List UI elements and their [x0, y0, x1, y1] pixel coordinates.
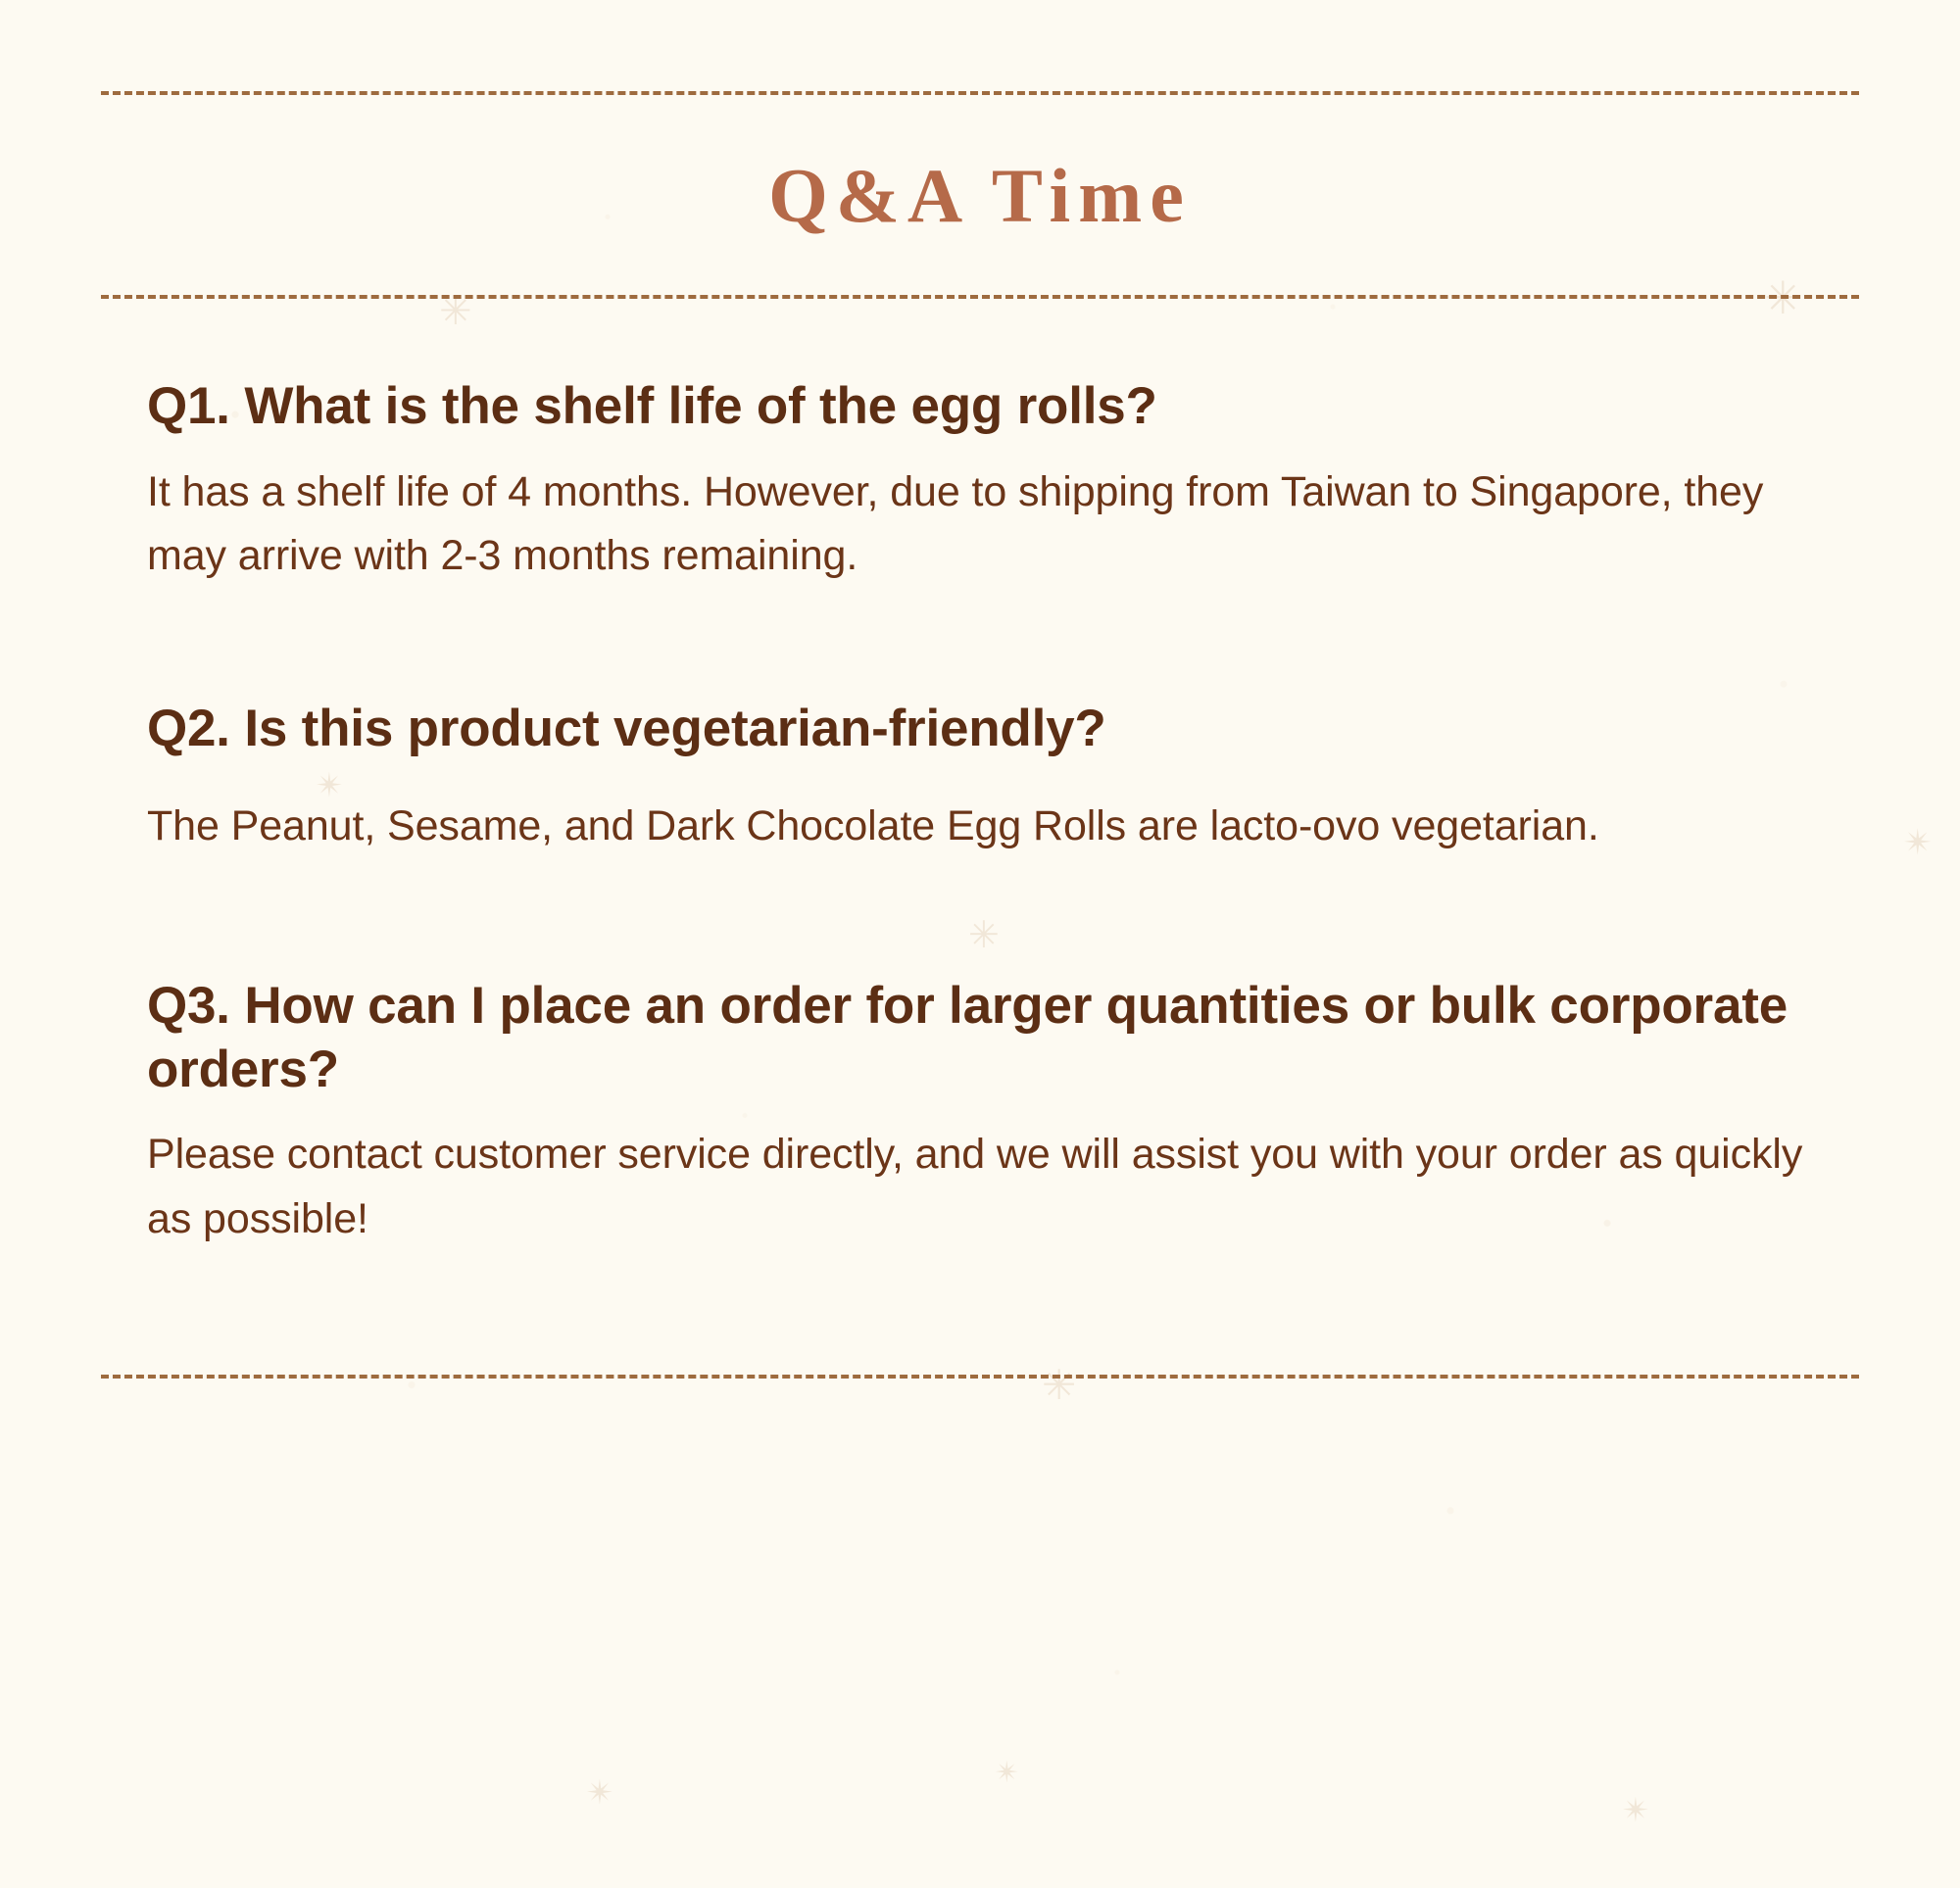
faq-item-3: Q3. How can I place an order for larger … [147, 975, 1813, 1251]
spacer-between-q1-q2 [147, 588, 1813, 698]
faq-answer-3: Please contact customer service directly… [147, 1123, 1813, 1251]
spacer-after-title [101, 299, 1859, 375]
qa-page: Q&A Time Q1. What is the shelf life of t… [0, 91, 1960, 1888]
spacer-before-bottom-divider [147, 1251, 1813, 1375]
faq-question-2: Q2. Is this product vegetarian-friendly? [147, 698, 1813, 761]
faq-question-1: Q1. What is the shelf life of the egg ro… [147, 375, 1813, 439]
faq-list: Q1. What is the shelf life of the egg ro… [101, 375, 1859, 1375]
faq-answer-1: It has a shelf life of 4 months. However… [147, 460, 1813, 589]
faq-item-2: Q2. Is this product vegetarian-friendly?… [147, 698, 1813, 869]
faq-item-1: Q1. What is the shelf life of the egg ro… [147, 375, 1813, 588]
divider-bottom [101, 1375, 1859, 1379]
faq-answer-2: The Peanut, Sesame, and Dark Chocolate E… [147, 783, 1813, 869]
page-title-block: Q&A Time [101, 95, 1859, 295]
page-title: Q&A Time [101, 156, 1859, 236]
faq-question-3: Q3. How can I place an order for larger … [147, 975, 1813, 1101]
spacer-between-q2-q3 [147, 869, 1813, 975]
